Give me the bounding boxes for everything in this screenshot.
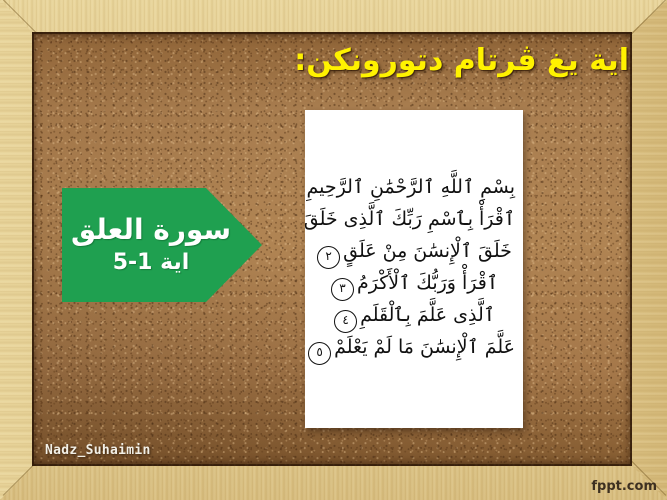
bismillah-line: بِسْمِ ٱللَّهِ ٱلرَّحْمَٰنِ ٱلرَّحِيمِ [313,173,515,206]
surah-name-label: سورة العلق [71,215,231,246]
page-title: اية يغ ڤرتام دتورونكن: [294,44,629,79]
ayah-text-2: خَلَقَ ٱلْإِنسَٰنَ مِنْ عَلَقٍ [343,240,512,262]
ayah-number-2: ٢ [317,246,340,269]
ayah-text-5: عَلَّمَ ٱلْإِنسَٰنَ مَا لَمْ يَعْلَمْ [334,336,515,358]
ayah-line-4: ٱلَّذِى عَلَّمَ بِٱلْقَلَمِ٤ [313,301,515,333]
fppt-brand-label: fppt.com [591,479,657,494]
ayah-range-label: اية 1-5 [113,251,190,275]
ayah-line-1: ٱقْرَأْ بِٱسْمِ رَبِّكَ ٱلَّذِى خَلَقَ١ [313,205,515,237]
author-watermark: Nadz_Suhaimin [45,443,151,458]
ayah-number-4: ٤ [334,310,357,333]
ayah-text-3: ٱقْرَأْ وَرَبُّكَ ٱلْأَكْرَمُ [357,272,498,294]
ayah-number-5: ٥ [308,342,331,365]
ayah-line-2: خَلَقَ ٱلْإِنسَٰنَ مِنْ عَلَقٍ٢ [313,237,515,269]
ayah-number-3: ٣ [331,278,354,301]
ayah-line-5: عَلَّمَ ٱلْإِنسَٰنَ مَا لَمْ يَعْلَمْ٥ [313,333,515,365]
ayah-line-3: ٱقْرَأْ وَرَبُّكَ ٱلْأَكْرَمُ٣ [313,269,515,301]
ayah-text-4: ٱلَّذِى عَلَّمَ بِٱلْقَلَمِ [360,304,495,326]
slide-canvas: اية يغ ڤرتام دتورونكن: سورة العلق اية 1-… [0,0,667,500]
quran-text-panel: بِسْمِ ٱللَّهِ ٱلرَّحْمَٰنِ ٱلرَّحِيمِ ٱ… [305,110,523,428]
ayah-text-1: ٱقْرَأْ بِٱسْمِ رَبِّكَ ٱلَّذِى خَلَقَ [305,208,515,230]
